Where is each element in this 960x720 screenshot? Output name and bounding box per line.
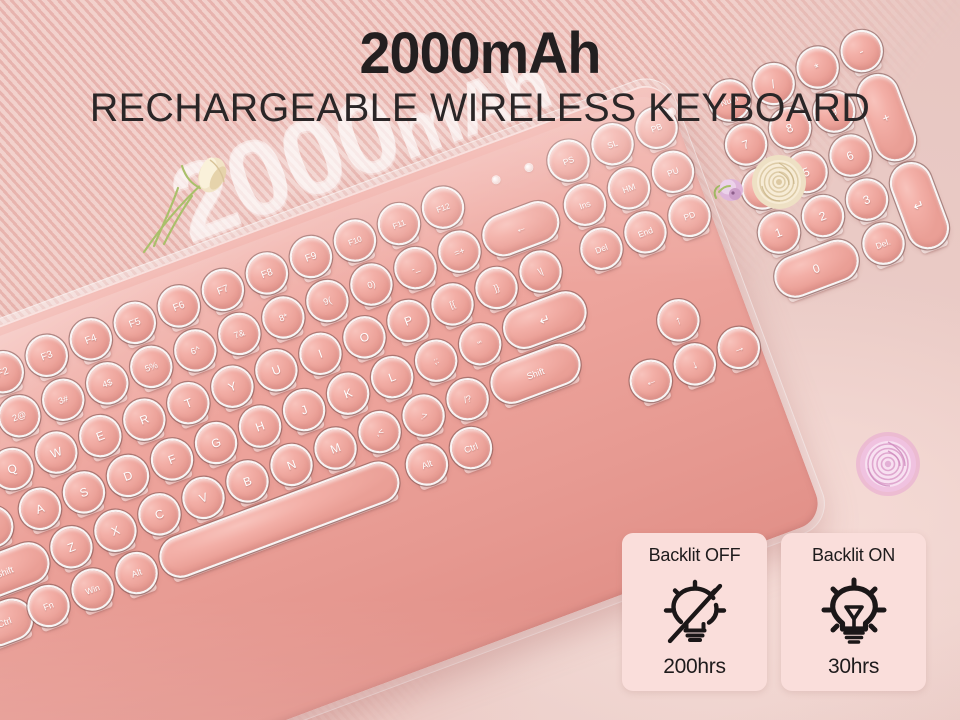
- key-label: Alt: [130, 567, 143, 580]
- key-label: End: [637, 225, 655, 240]
- key-label: 4$: [101, 377, 114, 390]
- key-label: N: [285, 457, 298, 473]
- key-label: G: [209, 435, 223, 451]
- key-label: Win: [84, 582, 101, 596]
- key-label: Z: [66, 539, 78, 555]
- key-label: ↵: [911, 196, 927, 215]
- key-label: M: [328, 440, 342, 457]
- key-label: Y: [226, 379, 238, 395]
- key-label: [{: [448, 299, 457, 310]
- key-label: F10: [347, 234, 363, 247]
- key-label: K: [342, 386, 354, 402]
- badge-on-value: 30hrs: [828, 655, 879, 691]
- key-label: ←: [514, 221, 529, 236]
- key-label: Alt: [420, 458, 433, 471]
- key-label: F2: [0, 365, 10, 379]
- key-label: 9(: [322, 295, 333, 307]
- key-label: Ins: [578, 198, 592, 211]
- key-label: 8*: [278, 311, 289, 323]
- key-label: Ctrl: [0, 615, 13, 629]
- key-label: L: [387, 369, 398, 384]
- key-label: P: [402, 313, 414, 329]
- key-label: 7&: [232, 327, 246, 340]
- page-subtitle: RECHARGEABLE WIRELESS KEYBOARD: [7, 87, 953, 130]
- key-label: -_: [410, 262, 421, 274]
- key-label: 0: [811, 261, 822, 276]
- badge-off-title: Backlit OFF: [649, 545, 741, 566]
- key-label: C: [153, 506, 166, 522]
- product-banner: 2000mAh EscF1F2F3F4F5F6F7F8F9F10F11F12~`…: [0, 0, 960, 720]
- key-label: F7: [215, 283, 230, 297]
- key-label: Shift: [0, 564, 15, 580]
- key-label: =+: [453, 245, 466, 258]
- lightbulb-off-icon: [658, 566, 732, 655]
- key-label: Del: [594, 242, 609, 256]
- key-label: '": [476, 339, 484, 350]
- key-label: F12: [435, 201, 451, 214]
- key-label: S: [78, 484, 90, 500]
- key-label: E: [94, 428, 106, 444]
- key-label: Q: [5, 461, 19, 477]
- badge-on-title: Backlit ON: [812, 545, 895, 566]
- key-label: B: [241, 473, 253, 489]
- key-label: ↑: [673, 313, 684, 328]
- key-label: /?: [462, 393, 473, 405]
- key-label: ↵: [537, 311, 553, 330]
- key-label: Del.: [874, 236, 892, 251]
- key-label: PS: [561, 154, 575, 167]
- key-label: Shift: [525, 366, 545, 382]
- key-label: →: [731, 339, 747, 356]
- key-label: A: [34, 501, 46, 517]
- key-label: F11: [391, 218, 407, 231]
- lightbulb-on-icon: [817, 566, 891, 655]
- key-label: 5: [801, 165, 812, 180]
- key-label: 5%: [143, 360, 159, 374]
- key-label: ↓: [690, 357, 701, 372]
- key-label: ;:: [432, 355, 440, 366]
- key-label: V: [197, 490, 209, 506]
- key-label: 3: [861, 192, 872, 207]
- key-label: .>: [418, 410, 429, 422]
- key-label: F4: [83, 332, 98, 346]
- key-label: F3: [39, 349, 54, 363]
- key-label: 0): [366, 279, 377, 291]
- key-label: O: [358, 329, 372, 345]
- key-label: Ctrl: [463, 441, 480, 455]
- key-label: H: [254, 418, 267, 434]
- key-label: F8: [260, 266, 275, 280]
- key-label: F5: [127, 316, 142, 330]
- key-label: \|: [537, 266, 545, 277]
- key-label: ]}: [492, 282, 501, 293]
- page-title: 2000mAh: [19, 24, 941, 83]
- key-label: HM: [621, 181, 637, 195]
- key-label: U: [270, 362, 283, 378]
- key-label: 2@: [11, 409, 28, 423]
- key-label: 6^: [189, 344, 201, 357]
- key-label: 2: [817, 209, 828, 224]
- key-label: 3#: [57, 393, 70, 406]
- key-label: PU: [666, 165, 681, 179]
- key-label: X: [109, 523, 121, 539]
- key-label: W: [49, 444, 65, 461]
- key-label: J: [299, 402, 310, 417]
- key-label: PD: [682, 209, 697, 223]
- key-label: 1: [773, 225, 784, 240]
- key-label: ←: [643, 372, 659, 389]
- key-label: F6: [171, 299, 186, 313]
- key-label: F: [166, 452, 178, 468]
- key-label: I: [316, 347, 324, 361]
- key-label: SL: [606, 138, 619, 151]
- key-label: ,<: [374, 426, 385, 438]
- backlit-comparison-badges: Backlit OFF: [622, 533, 926, 691]
- badge-backlit-off: Backlit OFF: [622, 533, 767, 691]
- key-label: T: [182, 395, 194, 411]
- key-label: Fn: [42, 599, 55, 612]
- key-label: D: [121, 468, 134, 484]
- badge-backlit-on: Backlit ON: [781, 533, 926, 691]
- key-label: 6: [845, 148, 856, 163]
- badge-off-value: 200hrs: [663, 655, 725, 691]
- headline-block: 2000mAh RECHARGEABLE WIRELESS KEYBOARD: [0, 24, 960, 130]
- key-label: 4: [756, 181, 767, 196]
- key-label: 7: [740, 137, 751, 152]
- key-label: F9: [304, 250, 319, 264]
- key-label: R: [138, 412, 151, 428]
